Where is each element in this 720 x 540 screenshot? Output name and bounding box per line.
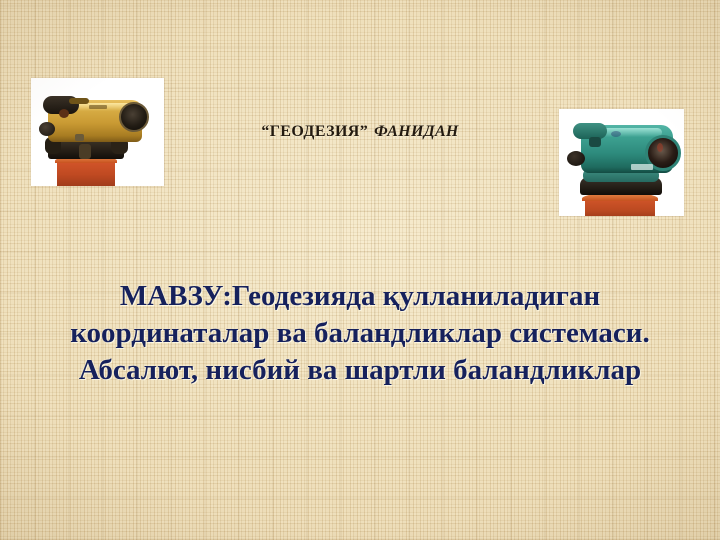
presentation-slide: “ГЕОДЕЗИЯ”ФАНИДАН МАВЗУ:Геодезияда қулла… — [0, 0, 720, 540]
instrument-label-left — [89, 105, 107, 109]
instrument-lens-glint-right — [657, 143, 663, 152]
title-line-2: координаталар ва баландликлар системаси. — [18, 315, 702, 352]
subject-line: “ГЕОДЕЗИЯ”ФАНИДАН — [0, 124, 720, 140]
page-title: МАВЗУ:Геодезияда қулланиладиган координа… — [18, 278, 702, 389]
instrument-base-left — [57, 160, 115, 186]
instrument-eyepiece-left — [59, 109, 69, 118]
instrument-brand-plate-right — [631, 164, 653, 170]
subject-name-quoted: “ГЕОДЕЗИЯ” — [261, 123, 368, 140]
instrument-focus-knob-right — [567, 151, 585, 166]
title-line-3: Абсалют, нисбий ва шартли баландликлар — [18, 352, 702, 389]
title-line-1: МАВЗУ:Геодезияда қулланиладиган — [18, 278, 702, 315]
subject-suffix-italic: ФАНИДАН — [374, 123, 459, 140]
instrument-sight-left — [69, 98, 89, 104]
instrument-foot-left-mid — [79, 144, 91, 159]
